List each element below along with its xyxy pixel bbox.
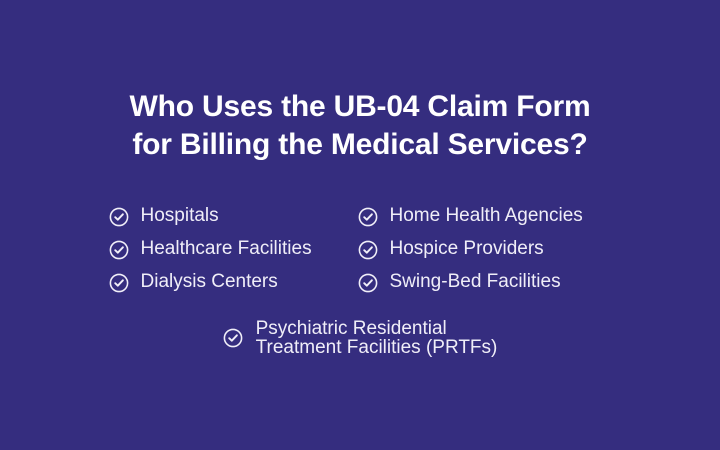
list-item-label: Healthcare Facilities xyxy=(141,239,312,259)
list-item: Swing-Bed Facilities xyxy=(358,272,618,293)
list-item: Psychiatric Residential Treatment Facili… xyxy=(223,319,498,357)
check-circle-icon xyxy=(358,207,378,227)
list-item: Hospice Providers xyxy=(358,239,618,260)
check-circle-icon xyxy=(109,240,129,260)
list-item: Dialysis Centers xyxy=(109,272,358,293)
provider-list-bottom-row: Psychiatric Residential Treatment Facili… xyxy=(0,319,720,357)
check-circle-icon xyxy=(223,328,243,348)
list-item-label-line-2: Treatment Facilities (PRTFs) xyxy=(256,338,498,357)
slide-canvas: Who Uses the UB-04 Claim Form for Billin… xyxy=(0,0,720,450)
provider-list-left-column: Hospitals Healthcare Facilities xyxy=(103,206,358,293)
list-item-label: Swing-Bed Facilities xyxy=(390,272,561,292)
check-circle-icon xyxy=(358,273,378,293)
provider-list-columns: Hospitals Healthcare Facilities xyxy=(103,206,618,293)
list-item-label: Dialysis Centers xyxy=(141,272,278,292)
list-item-label: Hospitals xyxy=(141,206,219,226)
provider-list-right-column: Home Health Agencies Hospice Providers xyxy=(358,206,618,293)
check-circle-icon xyxy=(109,207,129,227)
title-line-1: Who Uses the UB-04 Claim Form xyxy=(44,88,676,126)
list-item: Hospitals xyxy=(109,206,358,227)
page-title: Who Uses the UB-04 Claim Form for Billin… xyxy=(0,88,720,164)
check-circle-icon xyxy=(109,273,129,293)
list-item-label: Home Health Agencies xyxy=(390,206,583,226)
check-circle-icon xyxy=(358,240,378,260)
title-line-2: for Billing the Medical Services? xyxy=(44,126,676,164)
list-item-label-line-1: Psychiatric Residential xyxy=(256,319,498,338)
list-item: Healthcare Facilities xyxy=(109,239,358,260)
list-item-label-stack: Psychiatric Residential Treatment Facili… xyxy=(256,319,498,357)
list-item: Home Health Agencies xyxy=(358,206,618,227)
list-item-label: Hospice Providers xyxy=(390,239,544,259)
